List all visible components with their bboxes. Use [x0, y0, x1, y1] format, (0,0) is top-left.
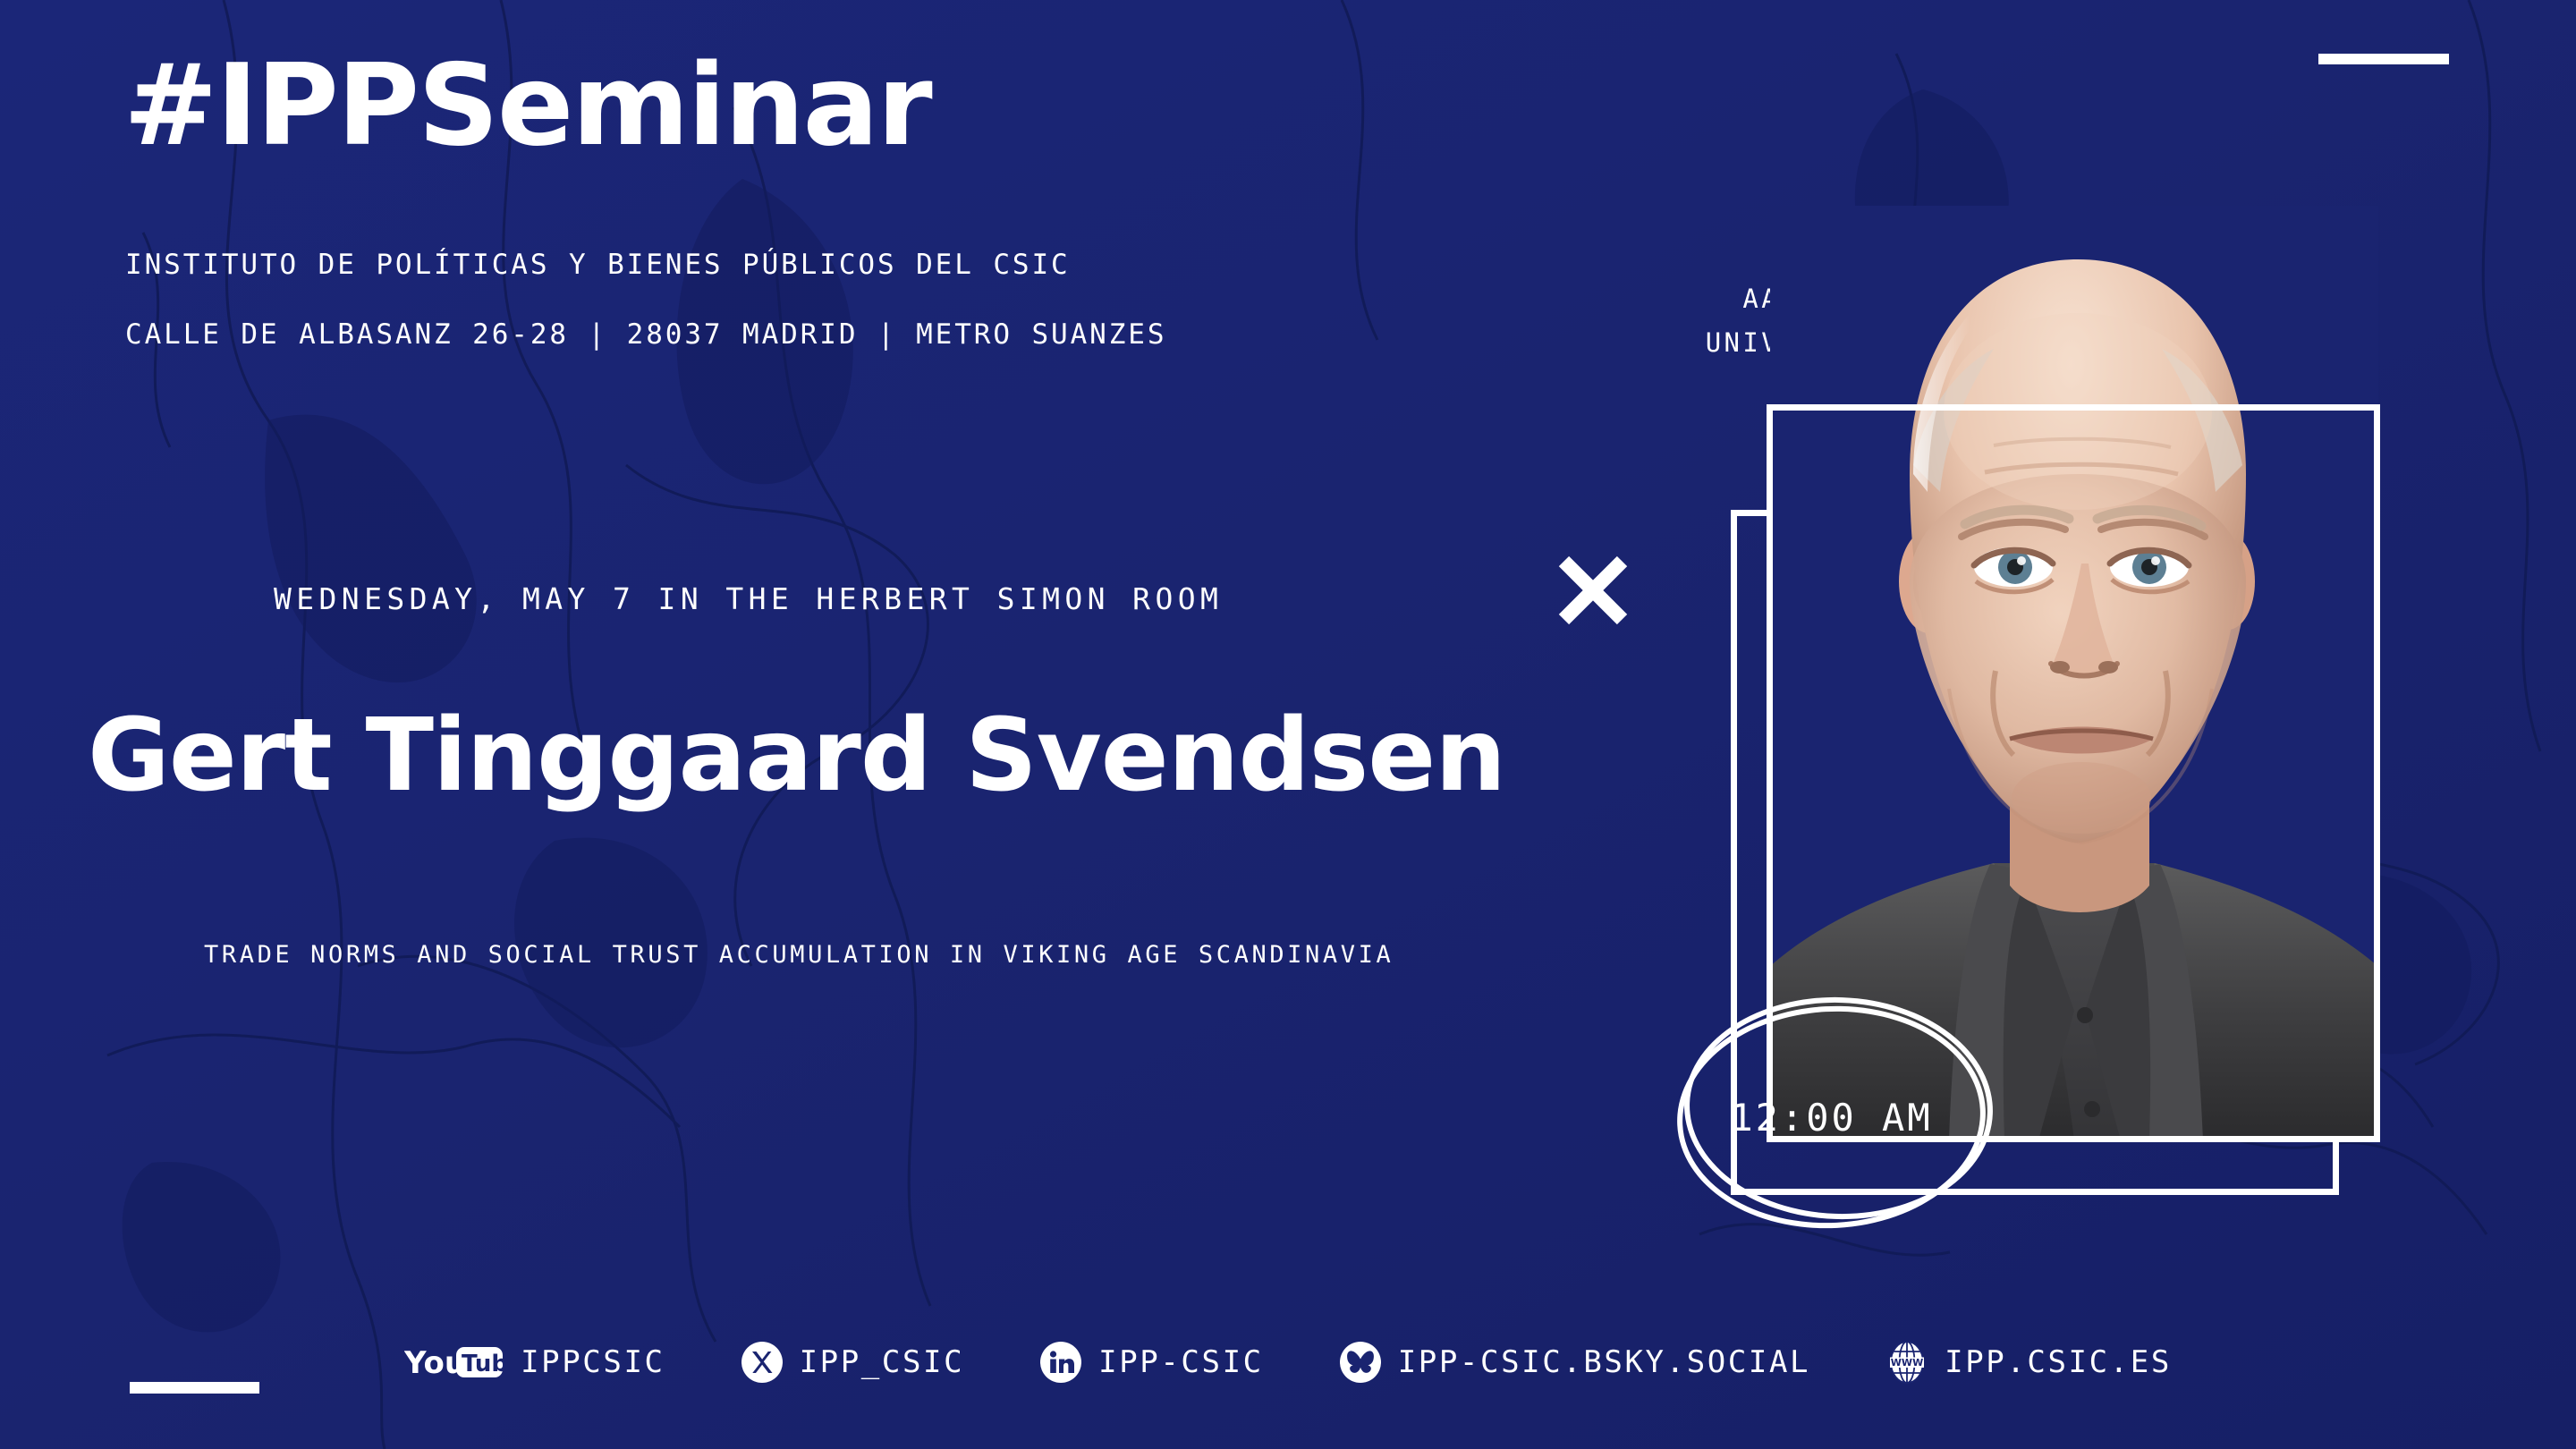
institute-line: INSTITUTO DE POLÍTICAS Y BIENES PÚBLICOS… [125, 249, 1071, 281]
page-title: #IPPSeminar [123, 47, 931, 165]
social-handle: IPPCSIC [521, 1344, 665, 1380]
social-item-bluesky[interactable]: IPP-CSIC.BSKY.SOCIAL [1339, 1341, 1810, 1384]
top-right-dash-rule [2318, 54, 2449, 64]
social-handle: IPP_CSIC [800, 1344, 965, 1380]
x-mark-icon [1557, 555, 1629, 626]
social-handle: IPP.CSIC.ES [1945, 1344, 2172, 1380]
event-time: 12:00 AM [1677, 1006, 1986, 1228]
social-bar: You Tube IPPCSIC IPP_CSIC [0, 1331, 2576, 1394]
social-handle: IPP-CSIC [1098, 1344, 1264, 1380]
talk-title: TRADE NORMS AND SOCIAL TRUST ACCUMULATIO… [204, 941, 1394, 969]
event-date-line: WEDNESDAY, MAY 7 IN THE HERBERT SIMON RO… [274, 581, 1223, 616]
address-line: CALLE DE ALBASANZ 26-28 | 28037 MADRID |… [125, 318, 1166, 351]
social-item-website[interactable]: WWW IPP.CSIC.ES [1885, 1339, 2172, 1385]
linkedin-icon [1039, 1341, 1082, 1384]
seminar-poster: #IPPSeminar INSTITUTO DE POLÍTICAS Y BIE… [0, 0, 2576, 1449]
x-twitter-icon [741, 1341, 784, 1384]
bluesky-icon [1339, 1341, 1382, 1384]
speaker-name: Gert Tinggaard Svendsen [88, 698, 1505, 814]
youtube-icon: You Tube [404, 1343, 504, 1381]
social-item-youtube[interactable]: You Tube IPPCSIC [404, 1343, 665, 1381]
speaker-photo-block: 12:00 AM [1682, 206, 2433, 1243]
svg-text:WWW: WWW [1891, 1357, 1923, 1368]
social-item-x[interactable]: IPP_CSIC [741, 1341, 965, 1384]
social-item-linkedin[interactable]: IPP-CSIC [1039, 1341, 1264, 1384]
globe-www-icon: WWW [1885, 1339, 1928, 1385]
svg-text:Tube: Tube [462, 1351, 504, 1377]
social-handle: IPP-CSIC.BSKY.SOCIAL [1398, 1344, 1810, 1380]
